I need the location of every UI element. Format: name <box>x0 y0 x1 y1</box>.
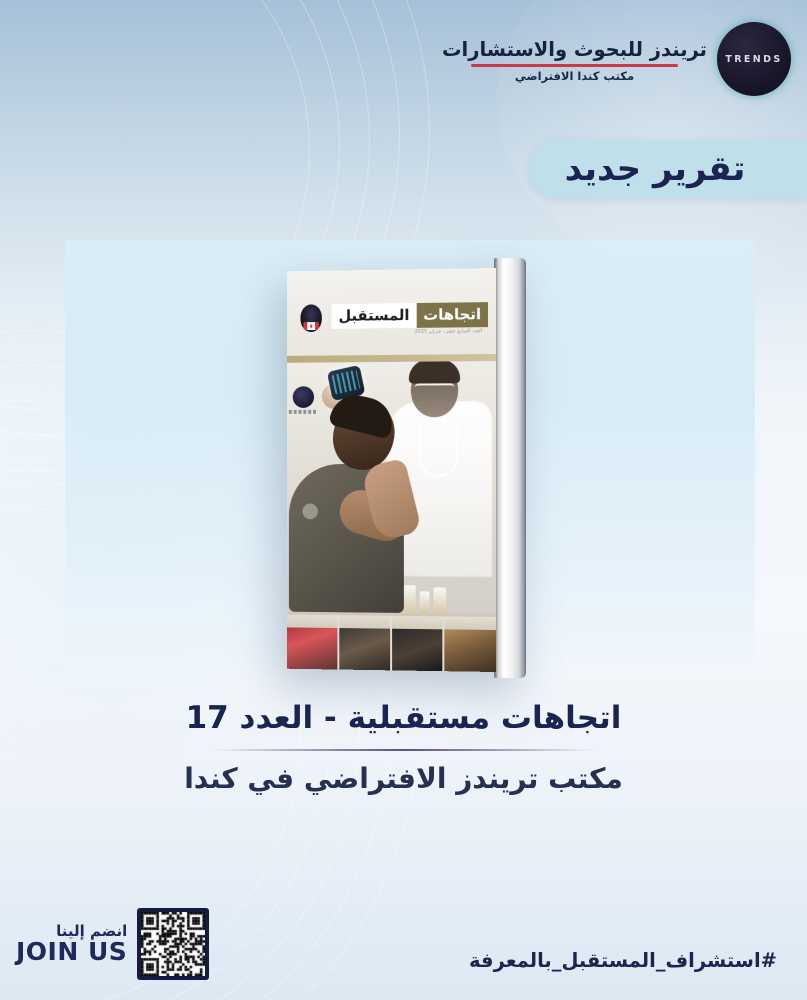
doctor-hair <box>409 361 460 384</box>
brand-text-block: تريندز للبحوث والاستشارات مكتب كندا الاف… <box>442 35 707 83</box>
filmstrip-band <box>339 615 390 628</box>
filmstrip-band <box>392 616 443 630</box>
maple-leaf-icon <box>303 322 319 330</box>
join-us-label-en: JOIN US <box>16 939 127 965</box>
doctor-glasses-icon <box>415 383 455 392</box>
bottle <box>420 591 430 613</box>
filmstrip-thumb <box>390 616 443 671</box>
new-report-badge: تقرير جديد <box>529 140 807 198</box>
logo-wordmark: TRENDS <box>717 22 791 96</box>
filmstrip-band <box>445 616 496 630</box>
join-us-block[interactable]: انضم إلينا JOIN US <box>16 908 209 980</box>
book-spine <box>494 258 526 678</box>
filmstrip-band <box>287 615 337 628</box>
cover-photo <box>287 361 496 672</box>
book-cover-mockup: اتجاهاتالمستقبل العدد السابع عشر - فبراي… <box>283 258 526 678</box>
brand-lockup: TRENDS تريندز للبحوث والاستشارات مكتب كن… <box>442 22 791 96</box>
qr-code-image <box>141 912 205 976</box>
hashtag: #استشراف_المستقبل_بالمعرفة <box>469 949 777 972</box>
trends-logo-icon: TRENDS <box>717 22 791 96</box>
brand-underline <box>471 64 678 67</box>
filmstrip-thumb <box>337 615 390 670</box>
headline-block: اتجاهات مستقبلية - العدد 17 مكتب تريندز … <box>0 700 807 796</box>
new-report-label: تقرير جديد <box>565 149 772 189</box>
praying-man-figure <box>289 396 420 613</box>
cover-filmstrip <box>287 612 496 672</box>
man-highlight <box>302 503 318 519</box>
cover-title-highlight: اتجاهات <box>416 302 488 328</box>
canada-emblem-icon <box>301 304 322 332</box>
brand-office: مكتب كندا الافتراضي <box>442 70 707 83</box>
join-us-text: انضم إلينا JOIN US <box>16 923 127 966</box>
cover-subline: العدد السابع عشر - فبراير 2025 <box>415 328 482 335</box>
cover-title-plain: المستقبل <box>332 303 417 329</box>
poster-canvas: TRENDS تريندز للبحوث والاستشارات مكتب كن… <box>0 0 807 1000</box>
brand-name: تريندز للبحوث والاستشارات <box>442 39 707 60</box>
filmstrip-thumb <box>287 615 337 670</box>
cover-title: اتجاهاتالمستقبل <box>332 302 488 329</box>
headline-divider <box>214 749 594 751</box>
page-title: اتجاهات مستقبلية - العدد 17 <box>0 700 807 737</box>
book-front-cover: اتجاهاتالمستقبل العدد السابع عشر - فبراي… <box>287 268 496 672</box>
stethoscope-icon <box>419 421 459 477</box>
bottle <box>433 587 446 613</box>
filmstrip-thumb <box>443 616 496 672</box>
qr-code[interactable] <box>137 908 209 980</box>
page-subtitle: مكتب تريندز الافتراضي في كندا <box>0 761 807 796</box>
